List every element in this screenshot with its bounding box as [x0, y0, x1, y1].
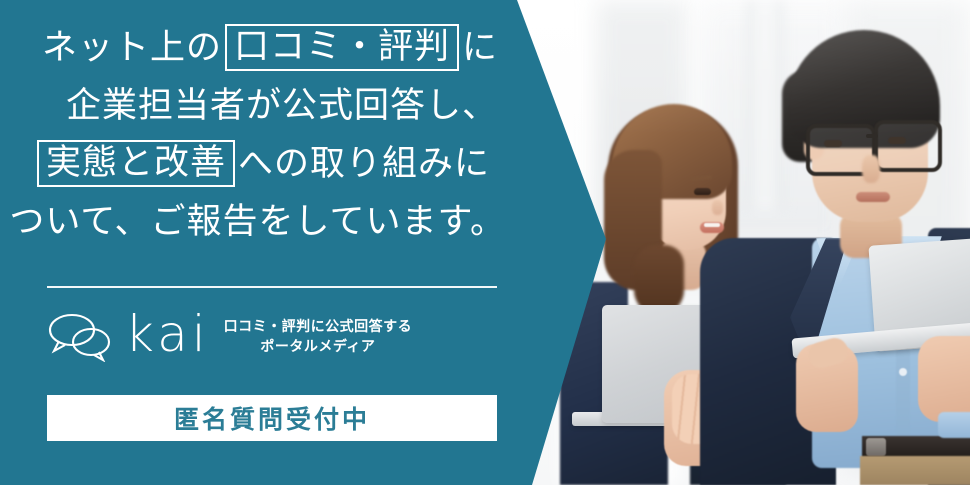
headline-line-2-text: 企業担当者が公式回答し、: [66, 88, 498, 123]
headline-line-4-text: ついて、ご報告をしています。: [9, 204, 506, 239]
headline: ネット上の口コミ・評判に 企業担当者が公式回答し、 実態と改善への取り組みに つ…: [0, 18, 516, 250]
speech-bubbles-icon: [47, 310, 117, 362]
man-belt-buckle: [866, 438, 886, 456]
banner-content: ネット上の口コミ・評判に 企業担当者が公式回答し、 実態と改善への取り組みに つ…: [0, 0, 540, 485]
man-shirt-cuff: [938, 412, 970, 438]
logo-tagline: 口コミ・評判に公式回答する ポータルメディア: [224, 315, 413, 358]
headline-line-3-suffix: への取り組みに: [238, 146, 490, 181]
man-glasses-bridge: [866, 134, 878, 138]
logo-wordmark: kai: [125, 309, 210, 363]
logo-tagline-line-2: ポータルメディア: [224, 337, 413, 357]
headline-line-3: 実態と改善への取り組みに: [0, 134, 516, 192]
brand-logo[interactable]: kai 口コミ・評判に公式回答する ポータルメディア: [47, 300, 507, 372]
headline-line-4: ついて、ご報告をしています。: [0, 192, 516, 250]
office-pillar: [745, 0, 785, 210]
headline-boxed-kuchikomi: 口コミ・評判: [225, 24, 459, 71]
section-divider: [47, 286, 497, 288]
man-glasses-right-lens: [874, 120, 942, 172]
man-mouth: [856, 192, 890, 202]
logo-tagline-line-1: 口コミ・評判に公式回答する: [224, 317, 413, 337]
man-nose: [862, 155, 880, 183]
kai-promo-banner: ネット上の口コミ・評判に 企業担当者が公式回答し、 実態と改善への取り組みに つ…: [0, 0, 970, 485]
cta-label: 匿名質問受付中: [174, 400, 370, 436]
woman-teeth: [704, 223, 720, 227]
anonymous-question-cta-button[interactable]: 匿名質問受付中: [47, 395, 497, 441]
woman-eye: [694, 188, 711, 195]
woman-nose: [712, 200, 723, 215]
man-hand-right: [918, 336, 970, 422]
man-shirt-button: [899, 368, 907, 376]
headline-boxed-jittai: 実態と改善: [37, 140, 235, 187]
headline-line-2: 企業担当者が公式回答し、: [0, 76, 516, 134]
man-trousers: [860, 456, 970, 485]
headline-line-1-prefix: ネット上の: [42, 30, 222, 65]
headline-line-1: ネット上の口コミ・評判に: [0, 18, 516, 76]
headline-line-1-suffix: に: [462, 30, 498, 65]
